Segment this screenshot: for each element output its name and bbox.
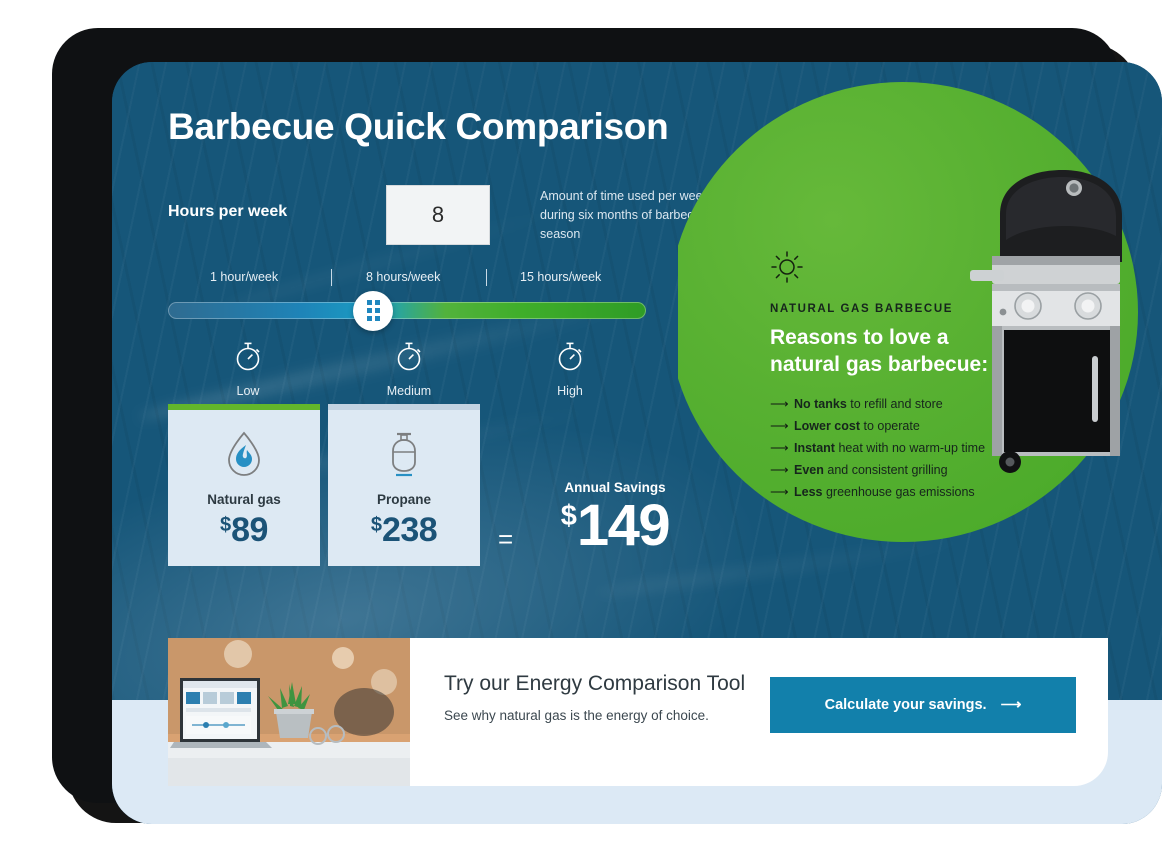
- reason-rest: greenhouse gas emissions: [823, 485, 975, 499]
- reason-rest: to refill and store: [847, 397, 943, 411]
- calculate-savings-button[interactable]: Calculate your savings. ⟶: [770, 677, 1076, 733]
- slider-handle[interactable]: [353, 291, 393, 331]
- cta-photo: [168, 638, 410, 786]
- reason-bold: Less: [794, 485, 823, 499]
- stopwatch-icon: [394, 340, 424, 372]
- arrow-right-icon: ⟶: [1001, 697, 1022, 713]
- slider-tick-min: 1 hour/week: [210, 270, 278, 284]
- panel-heading: Reasons to love a natural gas barbecue:: [770, 324, 1000, 378]
- usage-level-low: Low: [203, 340, 293, 398]
- currency-symbol: $: [561, 500, 577, 532]
- usage-level-label: Low: [203, 384, 293, 398]
- fuel-name: Propane: [328, 492, 480, 507]
- card-accent-bar: [328, 404, 480, 410]
- arrow-right-icon: ⟶: [770, 461, 789, 478]
- propane-tank-icon: [382, 428, 426, 480]
- cost-value: 89: [231, 511, 268, 549]
- fuel-card-propane[interactable]: Propane $238: [328, 404, 480, 566]
- slider-tick-labels: 1 hour/week 8 hours/week 15 hours/week: [168, 270, 646, 292]
- fuel-name: Natural gas: [168, 492, 320, 507]
- slider-tick-separator: [331, 269, 332, 286]
- arrow-right-icon: ⟶: [770, 439, 789, 456]
- page-title: Barbecue Quick Comparison: [168, 106, 668, 148]
- usage-level-label: Medium: [364, 384, 454, 398]
- list-item: ⟶Less greenhouse gas emissions: [770, 484, 1000, 501]
- cta-card: Try our Energy Comparison Tool See why n…: [168, 638, 1108, 786]
- hours-per-week-label: Hours per week: [168, 203, 287, 221]
- usage-level-high: High: [525, 340, 615, 398]
- reason-rest: heat with no warm-up time: [835, 441, 985, 455]
- hours-per-week-row: Hours per week 8 Amount of time used per…: [168, 185, 708, 249]
- reason-bold: Even: [794, 463, 824, 477]
- fuel-card-natural-gas[interactable]: Natural gas $89: [168, 404, 320, 566]
- hours-slider[interactable]: 1 hour/week 8 hours/week 15 hours/week: [168, 270, 646, 319]
- cost-value: 238: [382, 511, 437, 549]
- usage-level-medium: Medium: [364, 340, 454, 398]
- screen: Barbecue Quick Comparison Hours per week…: [112, 62, 1162, 824]
- slider-tick-max: 15 hours/week: [520, 270, 601, 284]
- list-item: ⟶Even and consistent grilling: [770, 462, 1000, 479]
- list-item: ⟶No tanks to refill and store: [770, 396, 1000, 413]
- slider-tick-mid: 8 hours/week: [366, 270, 440, 284]
- card-accent-bar: [168, 404, 320, 410]
- fuel-cost: $238: [328, 513, 480, 547]
- fuel-cost: $89: [168, 513, 320, 547]
- reasons-list: ⟶No tanks to refill and store ⟶Lower cos…: [770, 396, 1000, 501]
- device-frame: Barbecue Quick Comparison Hours per week…: [52, 28, 1118, 803]
- list-item: ⟶Lower cost to operate: [770, 418, 1000, 435]
- arrow-right-icon: ⟶: [770, 395, 789, 412]
- currency-symbol: $: [371, 514, 382, 536]
- slider-track[interactable]: [168, 302, 646, 319]
- stopwatch-icon: [555, 340, 585, 372]
- arrow-right-icon: ⟶: [770, 483, 789, 500]
- stopwatch-icon: [233, 340, 263, 372]
- list-item: ⟶Instant heat with no warm-up time: [770, 440, 1000, 457]
- reason-bold: Instant: [794, 441, 835, 455]
- slider-tick-separator: [486, 269, 487, 286]
- cta-button-label: Calculate your savings.: [825, 697, 987, 713]
- reason-bold: Lower cost: [794, 419, 860, 433]
- green-panel-content: NATURAL GAS BARBECUE Reasons to love a n…: [770, 250, 1000, 506]
- usage-levels: Low Medium: [168, 340, 646, 412]
- sun-icon: [770, 250, 804, 284]
- arrow-right-icon: ⟶: [770, 417, 789, 434]
- reason-bold: No tanks: [794, 397, 847, 411]
- reason-rest: to operate: [860, 419, 920, 433]
- currency-symbol: $: [220, 514, 231, 536]
- savings-value: 149: [577, 493, 669, 558]
- reason-rest: and consistent grilling: [824, 463, 948, 477]
- panel-eyebrow: NATURAL GAS BARBECUE: [770, 303, 1000, 315]
- water-drop-flame-icon: [222, 428, 266, 480]
- equals-sign: =: [498, 524, 513, 555]
- hours-per-week-input[interactable]: 8: [386, 185, 490, 245]
- laptop-plant-glasses-on-desk: [168, 638, 410, 786]
- drag-grip-icon: [367, 300, 380, 321]
- usage-level-label: High: [525, 384, 615, 398]
- natural-gas-barbecue-panel: NATURAL GAS BARBECUE Reasons to love a n…: [678, 82, 1148, 542]
